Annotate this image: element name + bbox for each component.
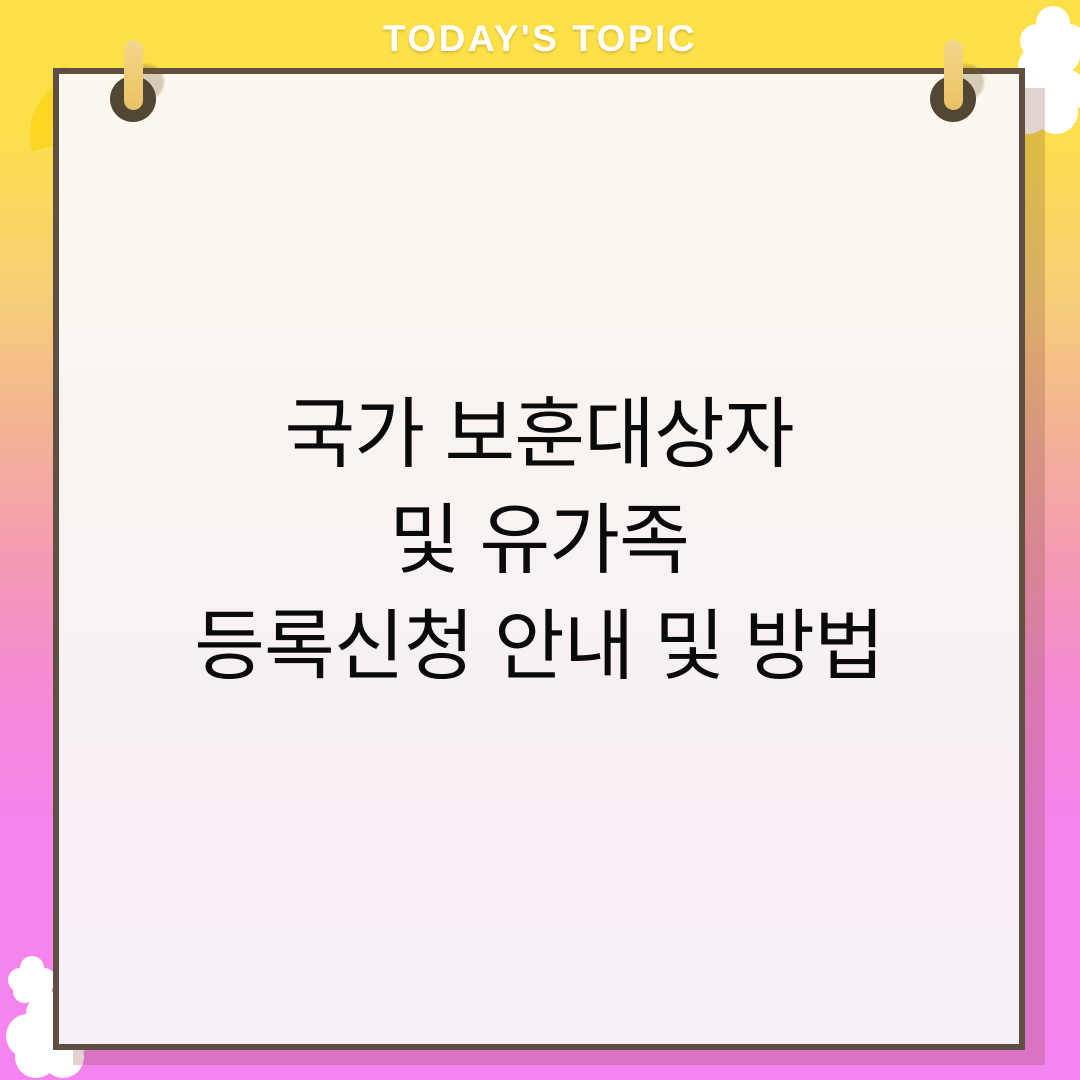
headline-line-3: 등록신청 안내 및 방법	[73, 594, 1005, 700]
header-band: TODAY'S TOPIC	[0, 0, 1080, 70]
headline-line-2: 및 유가족	[73, 488, 1005, 594]
page-title: TODAY'S TOPIC	[383, 14, 697, 57]
headline: 국가 보훈대상자 및 유가족 등록신청 안내 및 방법	[59, 382, 1019, 701]
headline-line-1: 국가 보훈대상자	[73, 382, 1005, 488]
flower-bottom-left-small-icon	[8, 956, 58, 1006]
poster-canvas: TODAY'S TOPIC 국가 보훈대상자 및 유가족 등록신청 안내 및 방…	[0, 0, 1080, 1080]
content-card: 국가 보훈대상자 및 유가족 등록신청 안내 및 방법	[53, 68, 1025, 1050]
